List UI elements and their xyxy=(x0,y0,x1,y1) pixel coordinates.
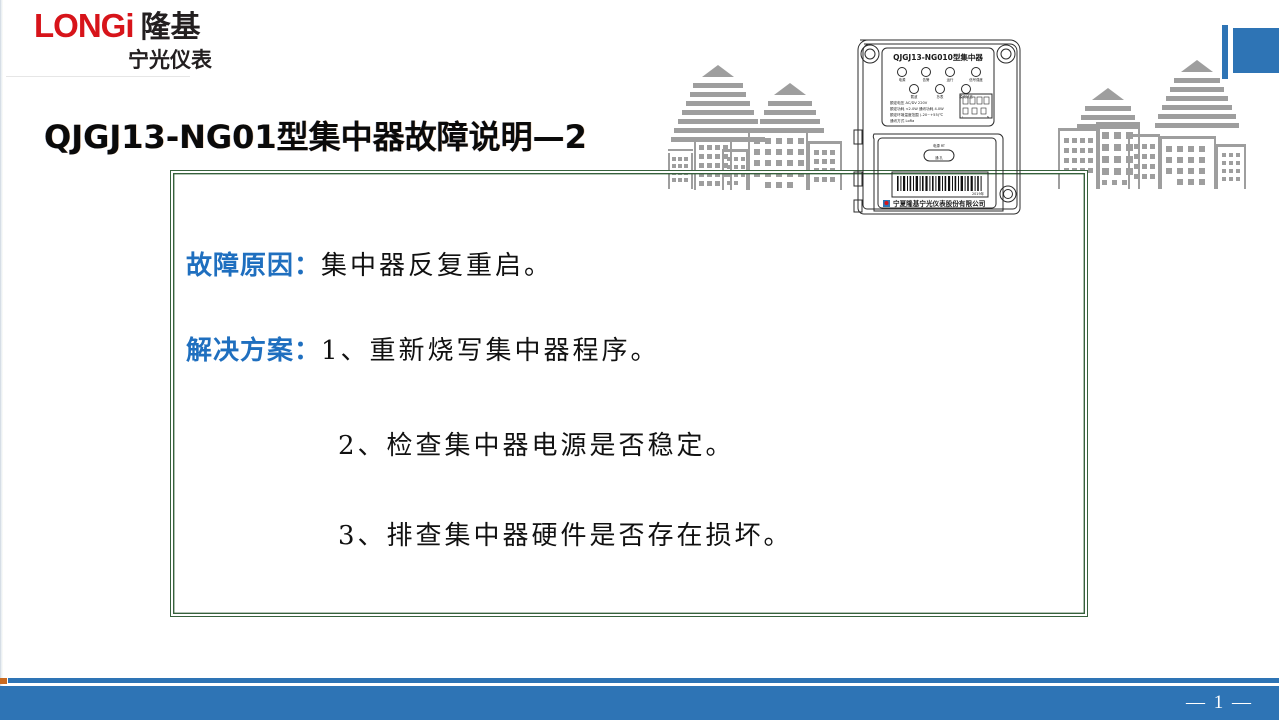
fault-reason-label: 故障原因： xyxy=(186,251,321,281)
logo-chinese-wordmark: 隆基 xyxy=(141,10,201,46)
solution-line-1: 解决方案：1、重新烧写集中器程序。 xyxy=(186,330,660,367)
solution-label: 解决方案： xyxy=(186,336,321,366)
page-number: — 1 — xyxy=(1186,692,1253,714)
concentrator-device-illustration: QJGJ13-NG010型集中器 电源告警 运行信号强度 载波抄表模块状态 额定… xyxy=(848,34,1034,224)
logo-underline xyxy=(6,76,190,77)
logo-subtitle: 宁光仪表 xyxy=(28,44,218,74)
solution-item-2: 2、检查集中器电源是否稳定。 xyxy=(338,425,735,462)
device-barcode-year: 2019年 xyxy=(972,191,985,196)
svg-text:额定环境温度范围 (-20~+55)℃: 额定环境温度范围 (-20~+55)℃ xyxy=(890,112,943,117)
device-manufacturer-label: 宁夏隆基宁光仪表股份有限公司 xyxy=(893,199,985,208)
page-title: QJGJ13-NG01型集中器故障说明—2 xyxy=(44,112,587,158)
svg-text:载波: 载波 xyxy=(911,94,918,99)
logo-latin-wordmark: LONGi xyxy=(34,8,134,44)
svg-text:通 孔: 通 孔 xyxy=(935,155,943,160)
svg-text:信号强度: 信号强度 xyxy=(969,77,983,82)
svg-text:模块状态: 模块状态 xyxy=(959,94,973,99)
company-logo: LONGi 隆基 宁光仪表 xyxy=(28,8,218,78)
footer-band xyxy=(0,686,1279,720)
svg-text:电源: 电源 xyxy=(899,77,906,82)
svg-text:运行: 运行 xyxy=(947,77,954,82)
logo-primary-row: LONGi 隆基 xyxy=(28,8,218,46)
solution-item-3: 3、排查集中器硬件是否存在损坏。 xyxy=(338,515,793,552)
svg-text:抄表: 抄表 xyxy=(937,94,944,99)
svg-text:额定功耗 <2.0W 通讯功耗 4.0W: 额定功耗 <2.0W 通讯功耗 4.0W xyxy=(890,106,944,111)
device-model-label: QJGJ13-NG010型集中器 xyxy=(893,52,983,62)
slide-left-edge-line xyxy=(0,0,3,720)
svg-text:N: N xyxy=(987,115,989,119)
footer-orange-tick xyxy=(0,678,7,684)
svg-text:电源 RT: 电源 RT xyxy=(933,143,946,148)
fault-reason-value: 集中器反复重启。 xyxy=(321,251,553,281)
solution-item-1: 1、重新烧写集中器程序。 xyxy=(321,336,660,366)
svg-text:告警: 告警 xyxy=(923,77,930,82)
svg-text:通讯方式 LoRa: 通讯方式 LoRa xyxy=(890,118,914,123)
svg-text:额定电压 AC/DV 220V: 额定电压 AC/DV 220V xyxy=(890,100,928,105)
fault-reason-line: 故障原因：集中器反复重启。 xyxy=(186,245,553,282)
slide-canvas: LONGi 隆基 宁光仪表 xyxy=(0,0,1279,720)
